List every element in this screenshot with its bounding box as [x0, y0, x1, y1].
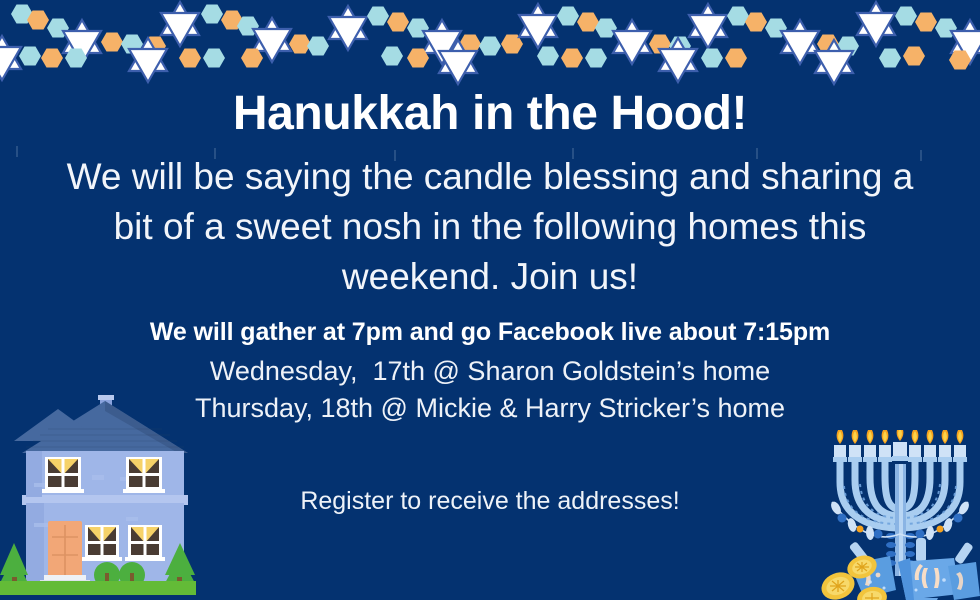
flyer-canvas: Hanukkah in the Hood! We will be saying …	[0, 0, 980, 600]
register-cta-text: Register to receive the addresses!	[0, 487, 980, 516]
event-date-line: Thursday, 18th @ Mickie & Harry Stricker…	[0, 393, 980, 424]
page-title: Hanukkah in the Hood!	[0, 88, 980, 141]
star-of-david-garland	[0, 0, 980, 92]
gather-time-note: We will gather at 7pm and go Facebook li…	[0, 318, 980, 347]
sparkle-icon	[12, 146, 22, 158]
event-date-line: Wednesday, 17th @ Sharon Goldstein’s hom…	[0, 356, 980, 387]
flyer-description: We will be saying the candle blessing an…	[60, 152, 920, 302]
